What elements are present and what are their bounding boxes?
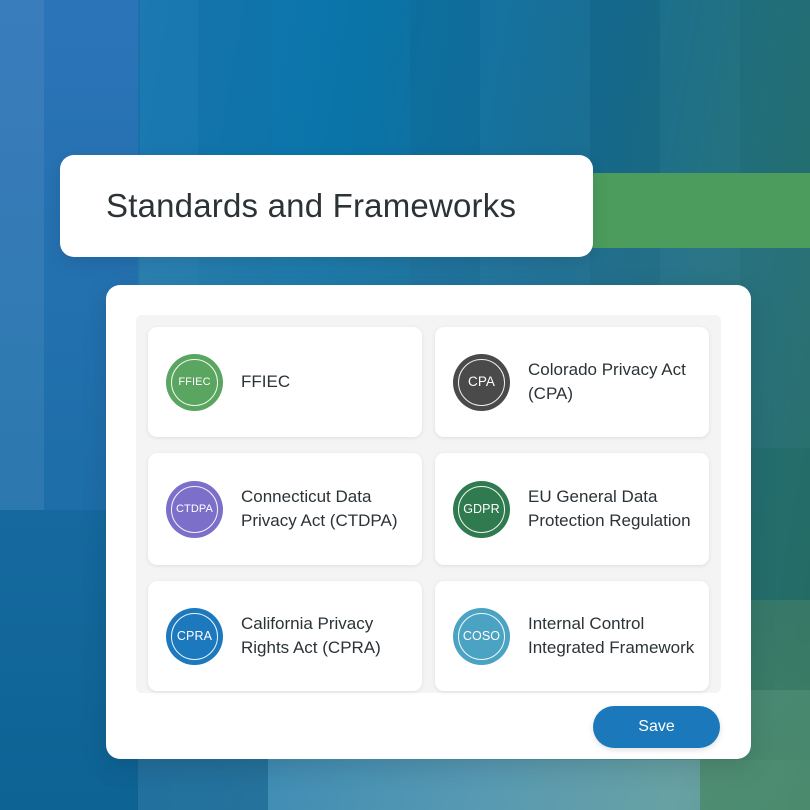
framework-card-gdpr[interactable]: GDPR EU General Data Protection Regulati… bbox=[435, 453, 709, 565]
framework-card-coso[interactable]: COSO Internal Control Integrated Framewo… bbox=[435, 581, 709, 691]
gdpr-badge-label: GDPR bbox=[463, 503, 500, 516]
ctdpa-badge-icon: CTDPA bbox=[166, 481, 223, 538]
framework-card-ctdpa[interactable]: CTDPA Connecticut Data Privacy Act (CTDP… bbox=[148, 453, 422, 565]
framework-card-ffiec[interactable]: FFIEC FFIEC bbox=[148, 327, 422, 437]
background-left-highlight bbox=[0, 0, 44, 510]
screen: Standards and Frameworks FFIEC FFIEC CPA… bbox=[0, 0, 810, 810]
frameworks-grid-container: FFIEC FFIEC CPA Colorado Privacy Act (CP… bbox=[136, 315, 721, 693]
save-button[interactable]: Save bbox=[593, 706, 720, 748]
ctdpa-badge-label: CTDPA bbox=[176, 504, 213, 515]
framework-label-cpa: Colorado Privacy Act (CPA) bbox=[528, 358, 696, 406]
cpra-badge-icon: CPRA bbox=[166, 608, 223, 665]
ffiec-badge-label: FFIEC bbox=[178, 377, 210, 388]
coso-badge-label: COSO bbox=[463, 630, 500, 643]
page-title: Standards and Frameworks bbox=[106, 187, 516, 225]
framework-label-gdpr: EU General Data Protection Regulation bbox=[528, 485, 696, 533]
framework-label-cpra: California Privacy Rights Act (CPRA) bbox=[241, 612, 409, 660]
cpa-badge-icon: CPA bbox=[453, 354, 510, 411]
coso-badge-icon: COSO bbox=[453, 608, 510, 665]
framework-card-cpa[interactable]: CPA Colorado Privacy Act (CPA) bbox=[435, 327, 709, 437]
cpa-badge-label: CPA bbox=[468, 375, 495, 389]
framework-label-ffiec: FFIEC bbox=[241, 370, 290, 394]
page-title-card: Standards and Frameworks bbox=[60, 155, 593, 257]
frameworks-panel: FFIEC FFIEC CPA Colorado Privacy Act (CP… bbox=[106, 285, 751, 759]
framework-card-cpra[interactable]: CPRA California Privacy Rights Act (CPRA… bbox=[148, 581, 422, 691]
frameworks-grid: FFIEC FFIEC CPA Colorado Privacy Act (CP… bbox=[148, 327, 709, 691]
background-green-band bbox=[588, 173, 810, 248]
framework-label-ctdpa: Connecticut Data Privacy Act (CTDPA) bbox=[241, 485, 409, 533]
cpra-badge-label: CPRA bbox=[177, 630, 212, 643]
framework-label-coso: Internal Control Integrated Framework bbox=[528, 612, 696, 660]
ffiec-badge-icon: FFIEC bbox=[166, 354, 223, 411]
gdpr-badge-icon: GDPR bbox=[453, 481, 510, 538]
